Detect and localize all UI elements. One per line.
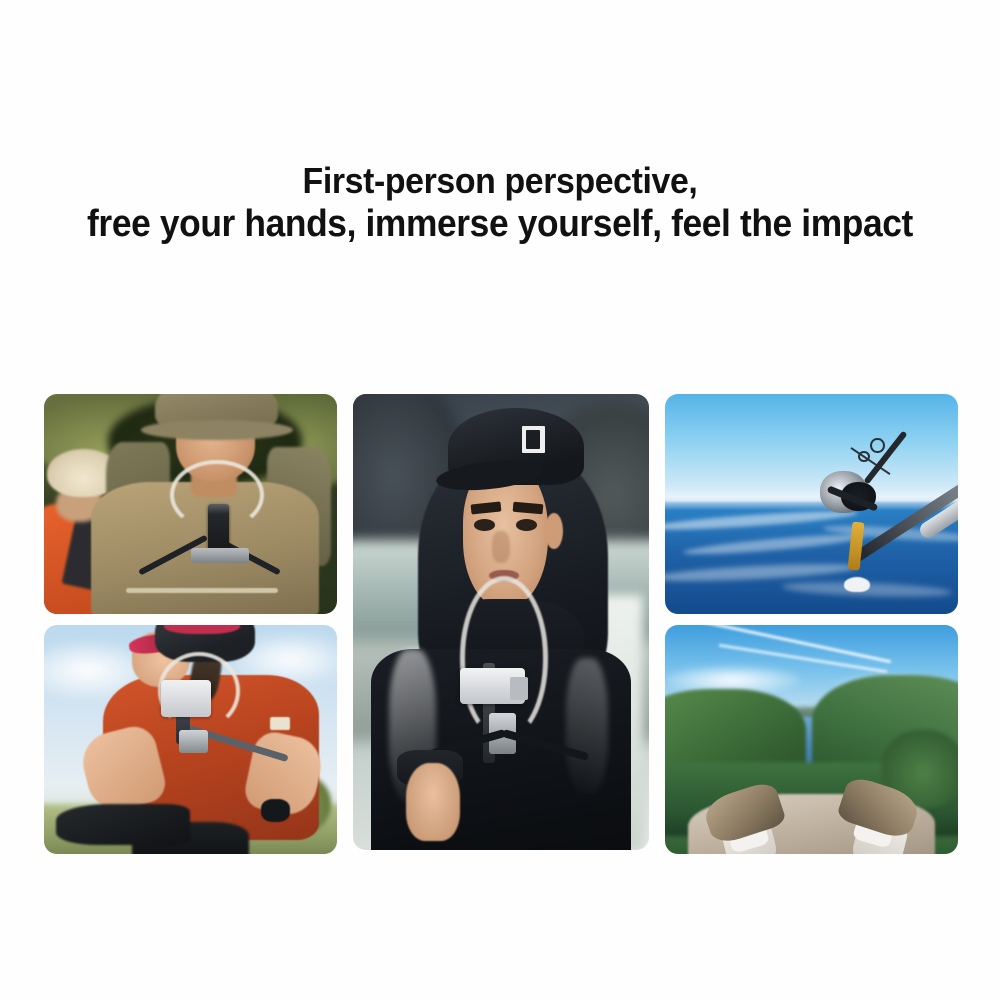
headline-line-2: free your hands, immerse yourself, feel …: [35, 202, 965, 246]
horizon-line: [665, 499, 958, 501]
rod-guide-1: [870, 438, 885, 453]
ear: [545, 513, 563, 549]
gallery-image-jacket-man[interactable]: [353, 394, 649, 850]
handlebars: [56, 804, 191, 845]
jacket-highlight-right: [566, 658, 607, 795]
jacket-man-scene: [353, 394, 649, 850]
headline-line-1: First-person perspective,: [30, 160, 970, 202]
lake-overlook-scene: [665, 625, 958, 854]
gallery-image-lake-overlook[interactable]: [665, 625, 958, 854]
camera-mount-base: [191, 548, 250, 563]
hiker-scene: [44, 394, 337, 614]
product-banner-page: First-person perspective, free your hand…: [0, 0, 1000, 1000]
wave-crest-3: [665, 560, 859, 584]
gallery-column-center: [353, 394, 649, 854]
phone-holder-plate: [161, 680, 211, 717]
lure-splash: [844, 577, 870, 592]
fishing-scene: [665, 394, 958, 614]
hip-belt: [126, 588, 278, 593]
sport-watch: [261, 799, 290, 822]
cyclist-scene: [44, 625, 337, 854]
gallery-column-right: [665, 394, 958, 854]
gallery-column-left: [44, 394, 337, 854]
camera-clip: [179, 730, 208, 753]
gallery-image-fishing[interactable]: [665, 394, 958, 614]
cap-brand-logo-inner: [526, 430, 539, 448]
eye-right: [516, 519, 537, 531]
wave-crest-2: [682, 531, 864, 558]
action-camera: [208, 504, 229, 550]
jersey-sleeve-tab: [270, 717, 291, 731]
left-hand: [406, 763, 459, 841]
nose: [492, 531, 510, 563]
gallery-image-hiker[interactable]: [44, 394, 337, 614]
gallery-image-cyclist[interactable]: [44, 625, 337, 854]
camera-lens-module: [510, 677, 528, 700]
image-gallery: [44, 394, 958, 854]
page-title: First-person perspective, free your hand…: [0, 160, 1000, 246]
